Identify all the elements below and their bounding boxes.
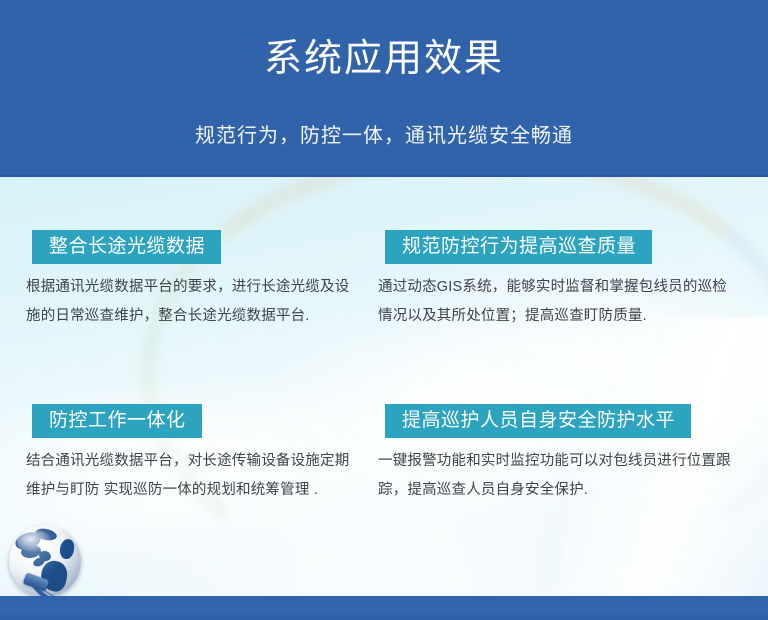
bottom-bar [0,596,768,620]
page-root: 系统应用效果 规范行为，防控一体，通讯光缆安全畅通 整合长途光缆数据 根据通讯光… [0,0,768,620]
feature-card-3-label: 防控工作一体化 [32,404,202,438]
feature-card-4-label: 提高巡护人员自身安全防护水平 [385,404,691,438]
feature-card-1-body: 根据通讯光缆数据平台的要求，进行长途光缆及设施的日常巡查维护，整合长途光缆数据平… [26,273,356,331]
feature-card-3: 防控工作一体化 结合通讯光缆数据平台，对长途传输设备设施定期维护与盯防 实现巡防… [24,404,374,505]
page-title: 系统应用效果 [0,34,768,84]
feature-card-1-label: 整合长途光缆数据 [32,230,221,264]
feature-card-4-body: 一键报警功能和实时监控功能可以对包线员进行位置跟踪，提高巡查人员自身安全保护. [378,447,740,505]
feature-card-1: 整合长途光缆数据 根据通讯光缆数据平台的要求，进行长途光缆及设施的日常巡查维护，… [24,230,374,331]
feature-card-3-body: 结合通讯光缆数据平台，对长途传输设备设施定期维护与盯防 实现巡防一体的规划和统筹… [26,447,356,505]
header-banner: 系统应用效果 规范行为，防控一体，通讯光缆安全畅通 [0,0,768,177]
feature-card-2: 规范防控行为提高巡查质量 通过动态GIS系统，能够实时监督和掌握包线员的巡检情况… [376,230,748,331]
page-subtitle: 规范行为，防控一体，通讯光缆安全畅通 [0,122,768,150]
feature-card-2-label: 规范防控行为提高巡查质量 [385,230,652,264]
feature-card-4: 提高巡护人员自身安全防护水平 一键报警功能和实时监控功能可以对包线员进行位置跟踪… [376,404,748,505]
feature-card-2-body: 通过动态GIS系统，能够实时监督和掌握包线员的巡检情况以及其所处位置；提高巡查盯… [378,273,740,331]
